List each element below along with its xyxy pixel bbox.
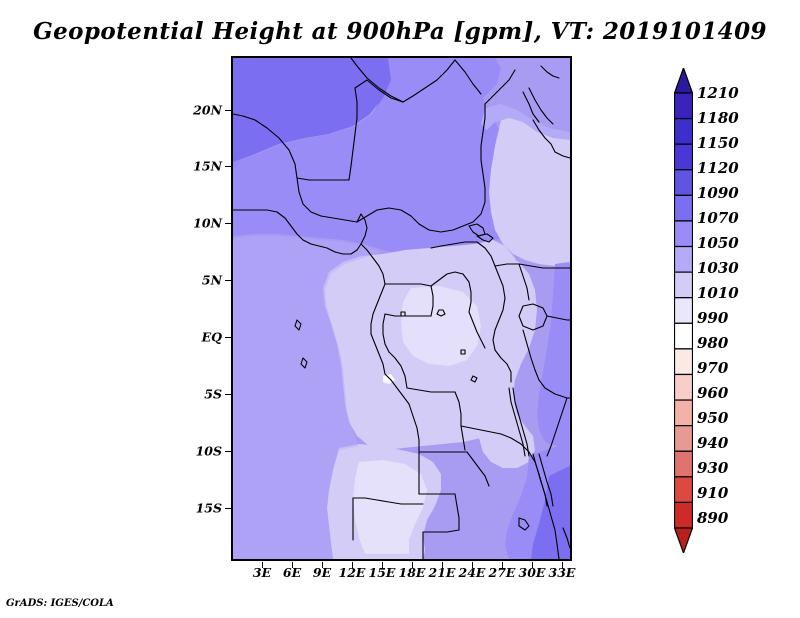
y-tick-4 (225, 337, 231, 338)
map-canvas (233, 58, 570, 559)
y-axis-label-10N: 10N (178, 216, 222, 231)
y-tick-1 (225, 166, 231, 167)
x-axis-label-3E: 3E (253, 565, 271, 580)
x-axis-label-24E: 24E (459, 565, 486, 580)
colorbar-label-1120: 1120 (697, 159, 739, 177)
page-title: Geopotential Height at 900hPa [gpm], VT:… (0, 18, 800, 45)
colorbar-label-950: 950 (697, 409, 728, 427)
colorbar-label-890: 890 (697, 509, 728, 527)
y-tick-3 (225, 280, 231, 281)
colorbar-label-1210: 1210 (697, 84, 739, 102)
x-axis-label-18E: 18E (399, 565, 426, 580)
y-tick-6 (225, 451, 231, 452)
y-axis-label-5S: 5S (178, 387, 222, 402)
y-tick-7 (225, 508, 231, 509)
colorbar-label-910: 910 (697, 484, 728, 502)
colorbar-label-960: 960 (697, 384, 728, 402)
colorbar-label-1070: 1070 (697, 209, 739, 227)
colorbar-label-990: 990 (697, 309, 728, 327)
colorbar-label-980: 980 (697, 334, 728, 352)
y-axis-label-15N: 15N (178, 159, 222, 174)
y-tick-2 (225, 223, 231, 224)
map-plot-area (231, 56, 572, 561)
colorbar-label-940: 940 (697, 434, 728, 452)
colorbar-swatches (674, 68, 693, 553)
colorbar-label-1090: 1090 (697, 184, 739, 202)
colorbar-label-1030: 1030 (697, 259, 739, 277)
x-axis-label-6E: 6E (283, 565, 301, 580)
x-axis-label-12E: 12E (339, 565, 366, 580)
x-axis-label-33E: 33E (549, 565, 576, 580)
grads-attribution: GrADS: IGES/COLA (6, 598, 114, 609)
colorbar (674, 68, 693, 553)
y-axis-label-5N: 5N (178, 273, 222, 288)
x-axis-label-9E: 9E (313, 565, 331, 580)
colorbar-label-970: 970 (697, 359, 728, 377)
y-tick-0 (225, 110, 231, 111)
x-axis-label-21E: 21E (429, 565, 456, 580)
colorbar-label-1150: 1150 (697, 134, 739, 152)
x-axis-label-30E: 30E (519, 565, 546, 580)
colorbar-label-1010: 1010 (697, 284, 739, 302)
x-axis-label-27E: 27E (489, 565, 516, 580)
y-axis-label-EQ: EQ (178, 330, 222, 345)
y-tick-5 (225, 394, 231, 395)
y-axis-label-20N: 20N (178, 103, 222, 118)
colorbar-label-1180: 1180 (697, 109, 739, 127)
colorbar-label-930: 930 (697, 459, 728, 477)
y-axis-label-10S: 10S (178, 444, 222, 459)
colorbar-label-1050: 1050 (697, 234, 739, 252)
x-axis-label-15E: 15E (369, 565, 396, 580)
y-axis-label-15S: 15S (178, 501, 222, 516)
